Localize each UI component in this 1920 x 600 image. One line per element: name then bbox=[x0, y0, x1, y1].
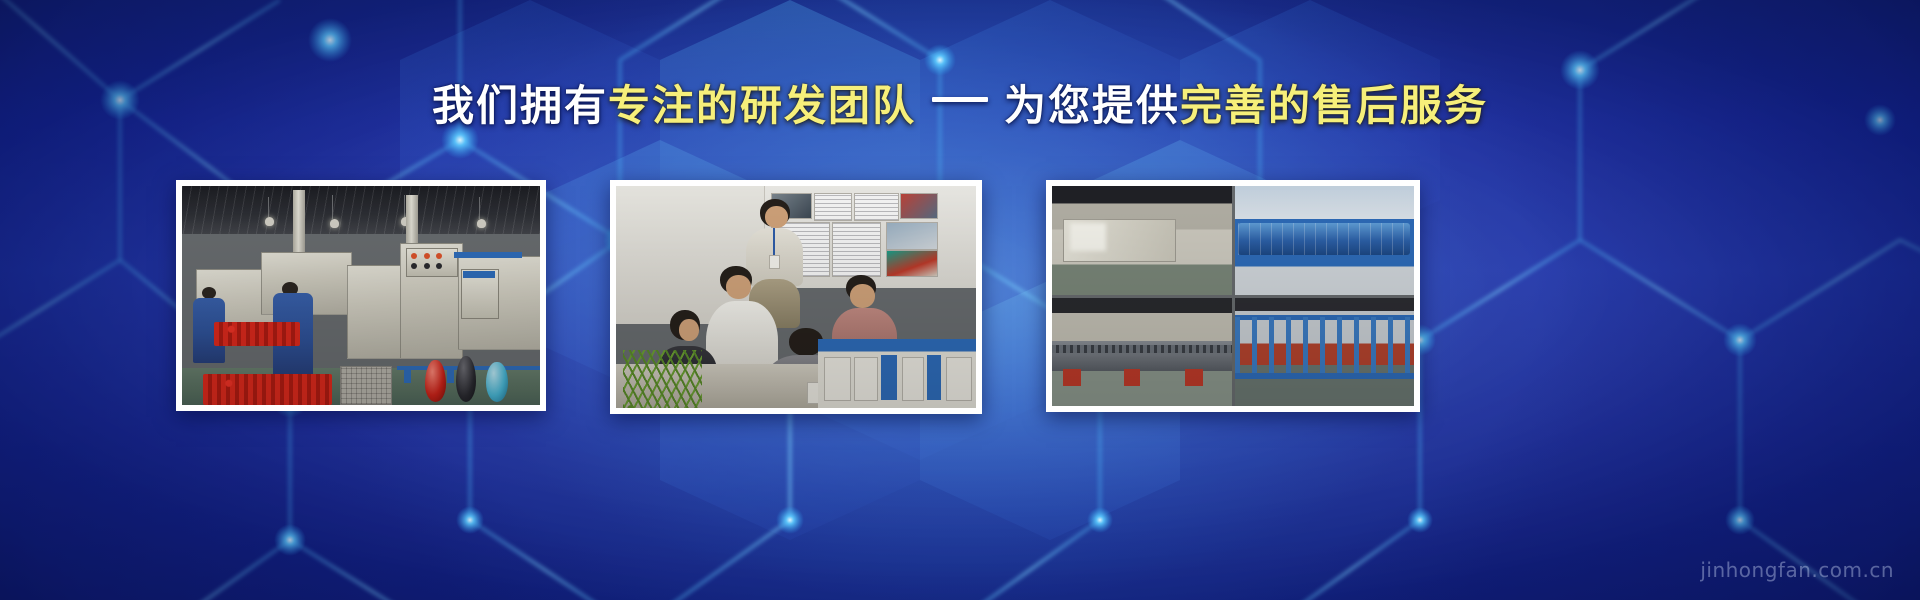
site-watermark: jinhongfan.com.cn bbox=[1700, 558, 1894, 582]
photo-facility-collage bbox=[1052, 186, 1414, 406]
promotional-banner: 我们拥有专注的研发团队为您提供完善的售后服务 bbox=[0, 0, 1920, 600]
photo-team-meeting bbox=[616, 186, 976, 408]
headline-segment-1: 我们拥有 bbox=[432, 85, 608, 127]
photo-production-line bbox=[182, 186, 540, 405]
gallery-card-facility-collage[interactable] bbox=[1046, 180, 1420, 412]
gallery-card-production-line[interactable] bbox=[176, 180, 546, 411]
gallery-card-team-meeting[interactable] bbox=[610, 180, 982, 414]
page-title: 我们拥有专注的研发团队为您提供完善的售后服务 bbox=[0, 82, 1920, 127]
headline-divider-dash bbox=[932, 97, 988, 102]
headline-segment-2: 专注的研发团队 bbox=[608, 85, 916, 127]
image-gallery bbox=[0, 180, 1920, 415]
headline-segment-3: 为您提供 bbox=[1004, 85, 1180, 127]
headline-segment-4: 完善的售后服务 bbox=[1180, 85, 1488, 127]
